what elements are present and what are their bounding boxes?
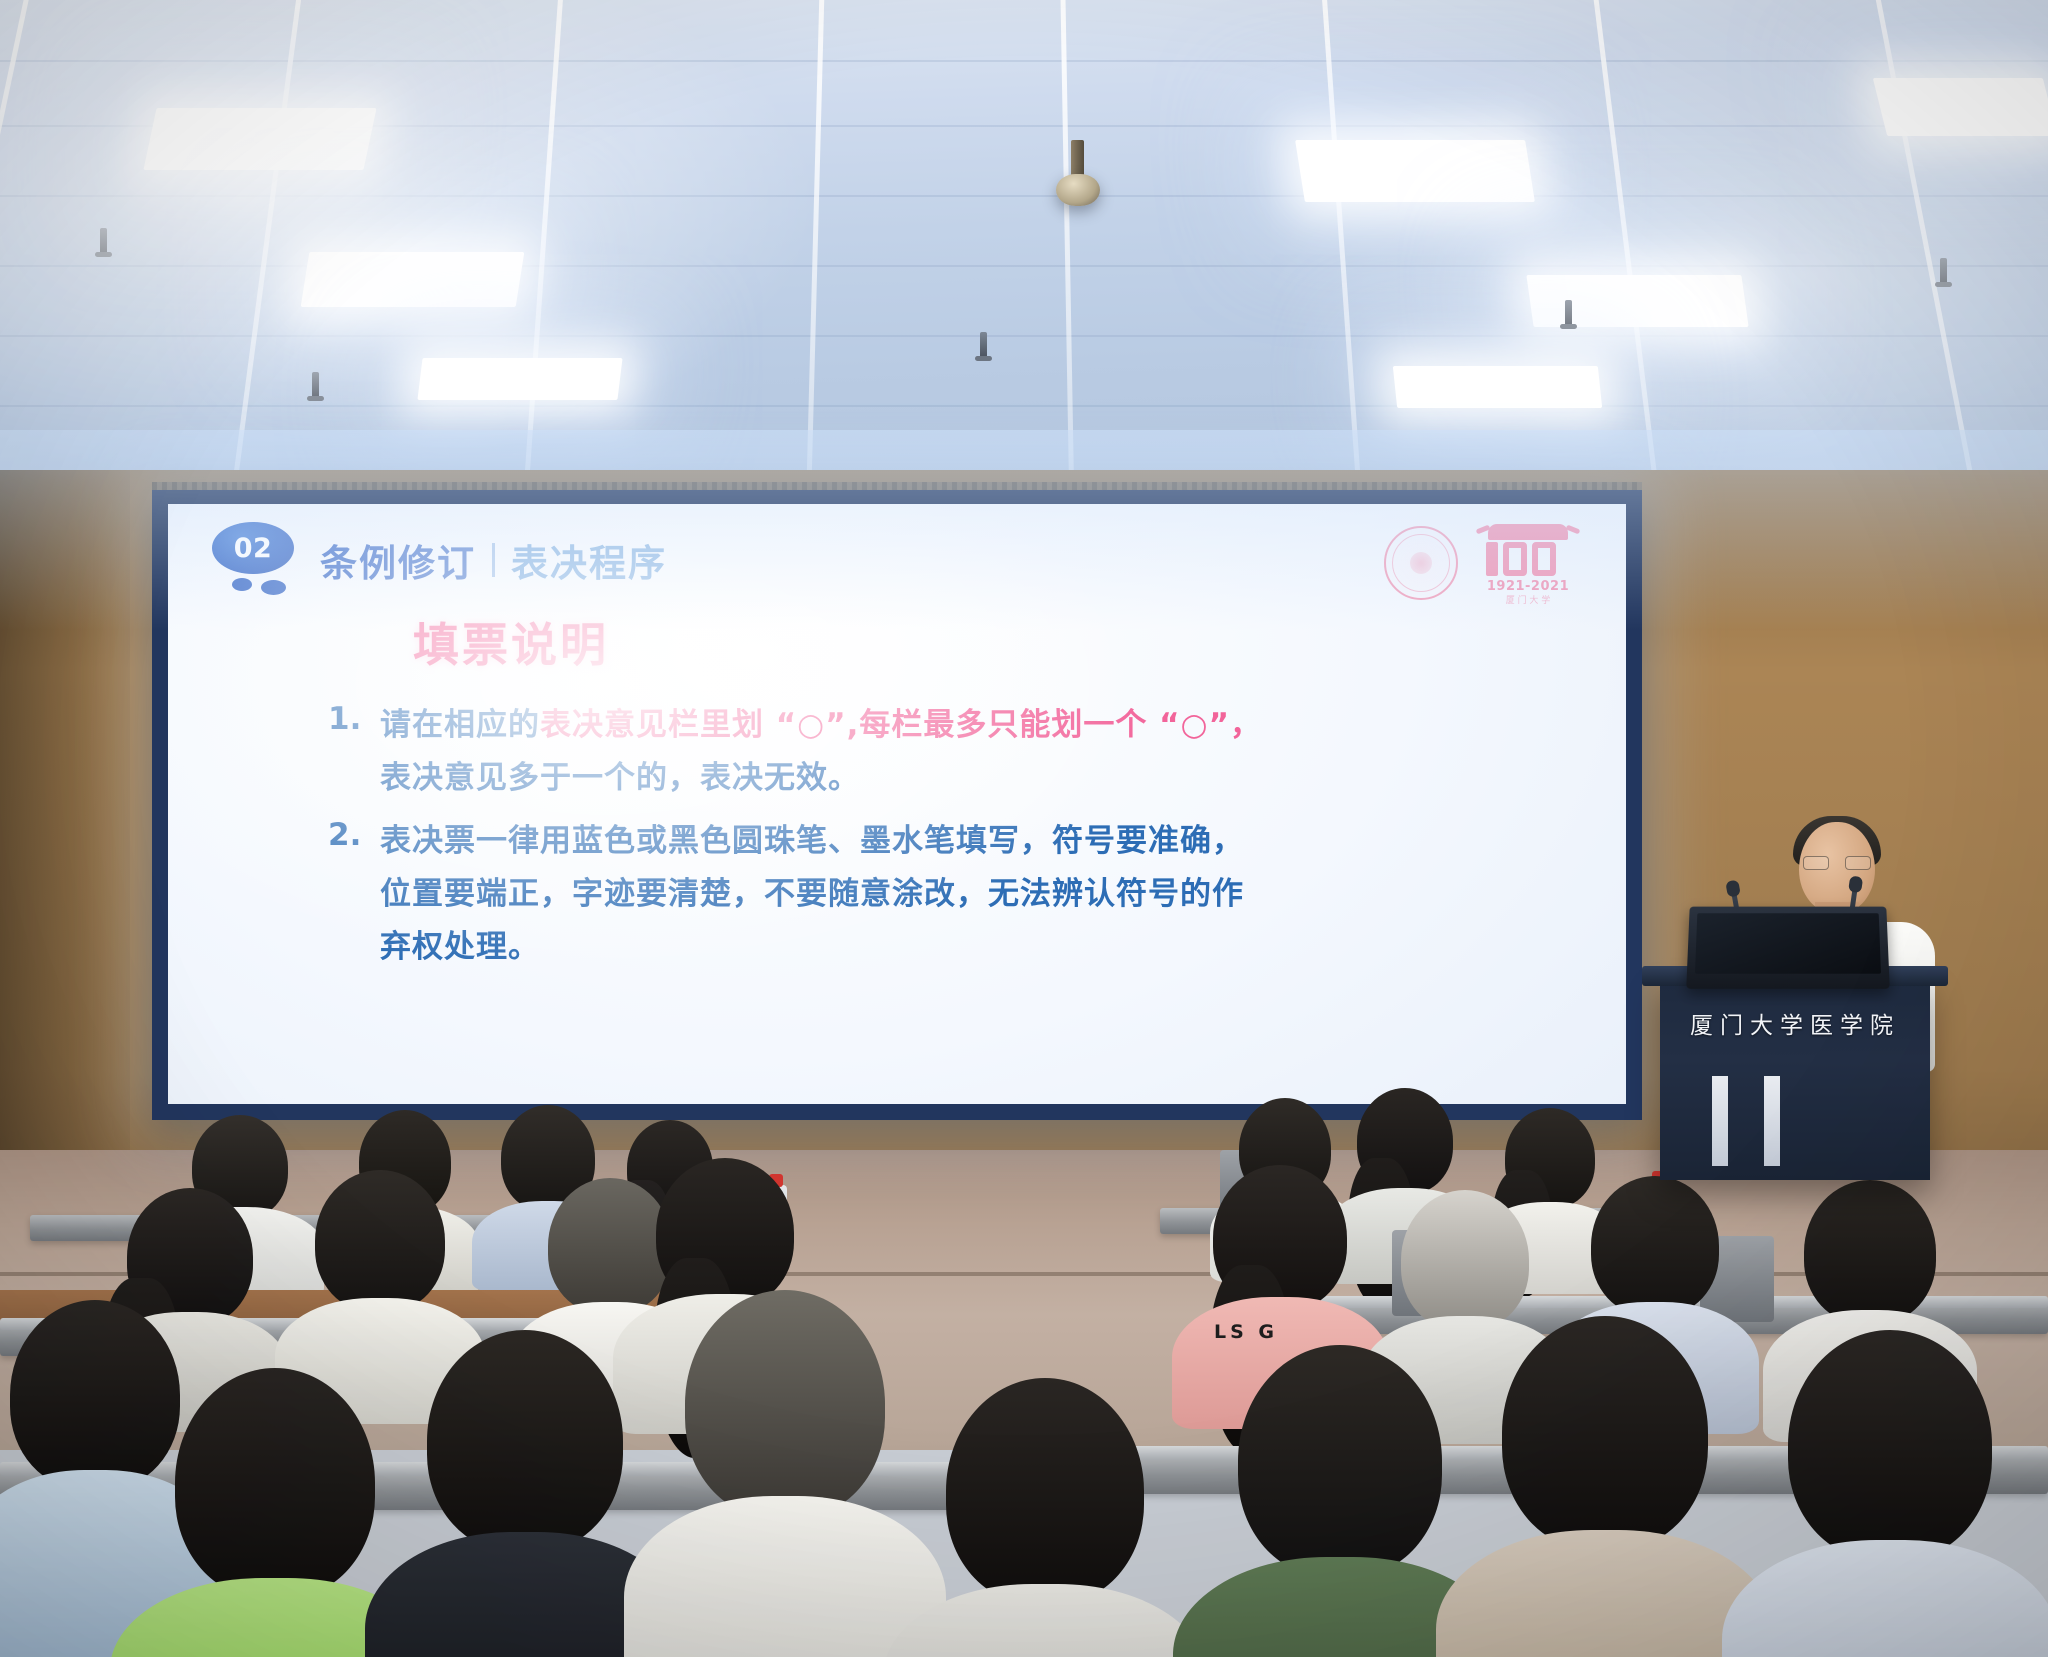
bullet-segment: 表决票一律用蓝色或黑色圆珠笔、墨水笔填写，符号要准确， — [380, 823, 1244, 859]
ceiling-light — [301, 252, 525, 307]
bubble-dot-large — [261, 580, 286, 595]
university-seal-icon — [1384, 526, 1458, 600]
bullet-segment-emphasis: 表决意见栏里划 “○”,每栏最多只能划一个 “○”， — [540, 707, 1262, 743]
bullet-line: 位置要端正，字迹要清楚，不要随意涂改，无法辨认符号的作 — [380, 868, 1566, 921]
header-separator — [492, 543, 495, 577]
slide-header: 02 条例修订 表决程序 — [206, 520, 667, 600]
bullet-line: 表决意见多于一个的，表决无效。 — [380, 752, 1566, 805]
audience-person — [900, 1378, 1190, 1657]
ceiling — [0, 0, 2048, 500]
slide-bullet: 2. 表决票一律用蓝色或黑色圆珠笔、墨水笔填写，符号要准确， 位置要端正，字迹要… — [328, 815, 1566, 974]
section-subtitle: 表决程序 — [511, 533, 667, 587]
section-badge: 02 — [206, 522, 302, 598]
section-title: 条例修订 — [320, 533, 476, 587]
bullet-line: 表决票一律用蓝色或黑色圆珠笔、墨水笔填写，符号要准确， — [380, 815, 1566, 868]
bullet-segment: 弃权处理。 — [380, 929, 540, 965]
centennial-university-name: 厦 门 大 学 — [1480, 593, 1576, 606]
podium-label: 厦门大学医学院 — [1660, 1006, 1930, 1040]
sprinkler-head — [312, 372, 319, 398]
bullet-segment: 表决意见多于一个的，表决无效。 — [380, 760, 860, 796]
bullet-line: 请在相应的表决意见栏里划 “○”,每栏最多只能划一个 “○”， — [380, 699, 1566, 752]
podium-monitor — [1686, 907, 1890, 989]
ceiling-light — [417, 358, 622, 400]
slide-bullet: 1. 请在相应的表决意见栏里划 “○”,每栏最多只能划一个 “○”， 表决意见多… — [328, 699, 1566, 805]
audience-shirt-text: LS G — [1214, 1321, 1278, 1343]
bubble-dot-small — [232, 578, 252, 591]
bullet-segment: 请在相应的 — [380, 707, 540, 743]
projection-screen-frame: 02 条例修订 表决程序 1921-2021 — [152, 490, 1642, 1120]
centennial-years: 1921-2021 — [1480, 579, 1576, 594]
centennial-logo-icon: 1921-2021 厦 门 大 学 — [1480, 524, 1576, 602]
bullet-segment: 位置要端正，字迹要清楚，不要随意涂改，无法辨认符号的作 — [380, 876, 1244, 912]
bullet-number: 2. — [328, 815, 380, 974]
ceiling-light — [1526, 275, 1748, 327]
sprinkler-head — [100, 228, 107, 254]
sprinkler-head — [980, 332, 987, 358]
audience-person — [640, 1290, 930, 1657]
ceiling-light — [1873, 78, 2048, 136]
slide-logos: 1921-2021 厦 门 大 学 — [1384, 524, 1576, 602]
sprinkler-head — [1565, 300, 1572, 326]
slide-title: 填票说明 — [413, 609, 609, 675]
slide-body: 1. 请在相应的表决意见栏里划 “○”,每栏最多只能划一个 “○”， 表决意见多… — [328, 699, 1566, 984]
ceiling-light — [143, 108, 376, 170]
ceiling-light — [1393, 366, 1602, 408]
bullet-number: 1. — [328, 699, 380, 805]
audience-person — [1740, 1330, 2040, 1657]
ceiling-projector — [1060, 140, 1094, 200]
ceiling-light — [1295, 140, 1535, 202]
projected-slide: 02 条例修订 表决程序 1921-2021 — [168, 504, 1626, 1104]
audience-person — [1455, 1316, 1755, 1657]
sprinkler-head — [1940, 258, 1947, 284]
bullet-line: 弃权处理。 — [380, 921, 1566, 974]
glasses-icon — [1803, 856, 1871, 871]
lecture-hall-photo: 02 条例修订 表决程序 1921-2021 — [0, 0, 2048, 1657]
podium: 厦门大学医学院 — [1660, 980, 1930, 1180]
section-badge-number: 02 — [234, 533, 273, 564]
